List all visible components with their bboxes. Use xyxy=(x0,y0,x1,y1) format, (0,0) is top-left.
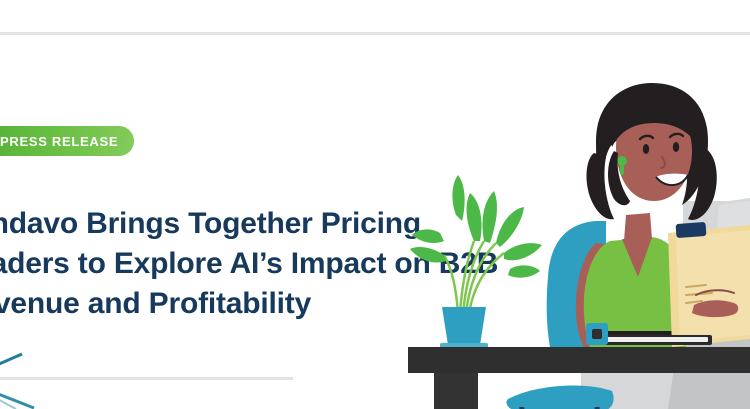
teal-accent-lines xyxy=(0,352,70,409)
desk-accessory xyxy=(586,323,608,345)
potted-plant xyxy=(410,175,542,351)
keyboard xyxy=(596,335,712,345)
press-release-badge: PRESS RELEASE xyxy=(0,126,134,156)
badge-label: PRESS RELEASE xyxy=(0,134,118,149)
hero-illustration xyxy=(400,55,750,409)
press-release-hero: PRESS RELEASE Vendavo Brings Together Pr… xyxy=(0,0,750,409)
top-divider xyxy=(0,32,750,35)
clipboard xyxy=(668,222,750,347)
stool xyxy=(506,385,613,409)
